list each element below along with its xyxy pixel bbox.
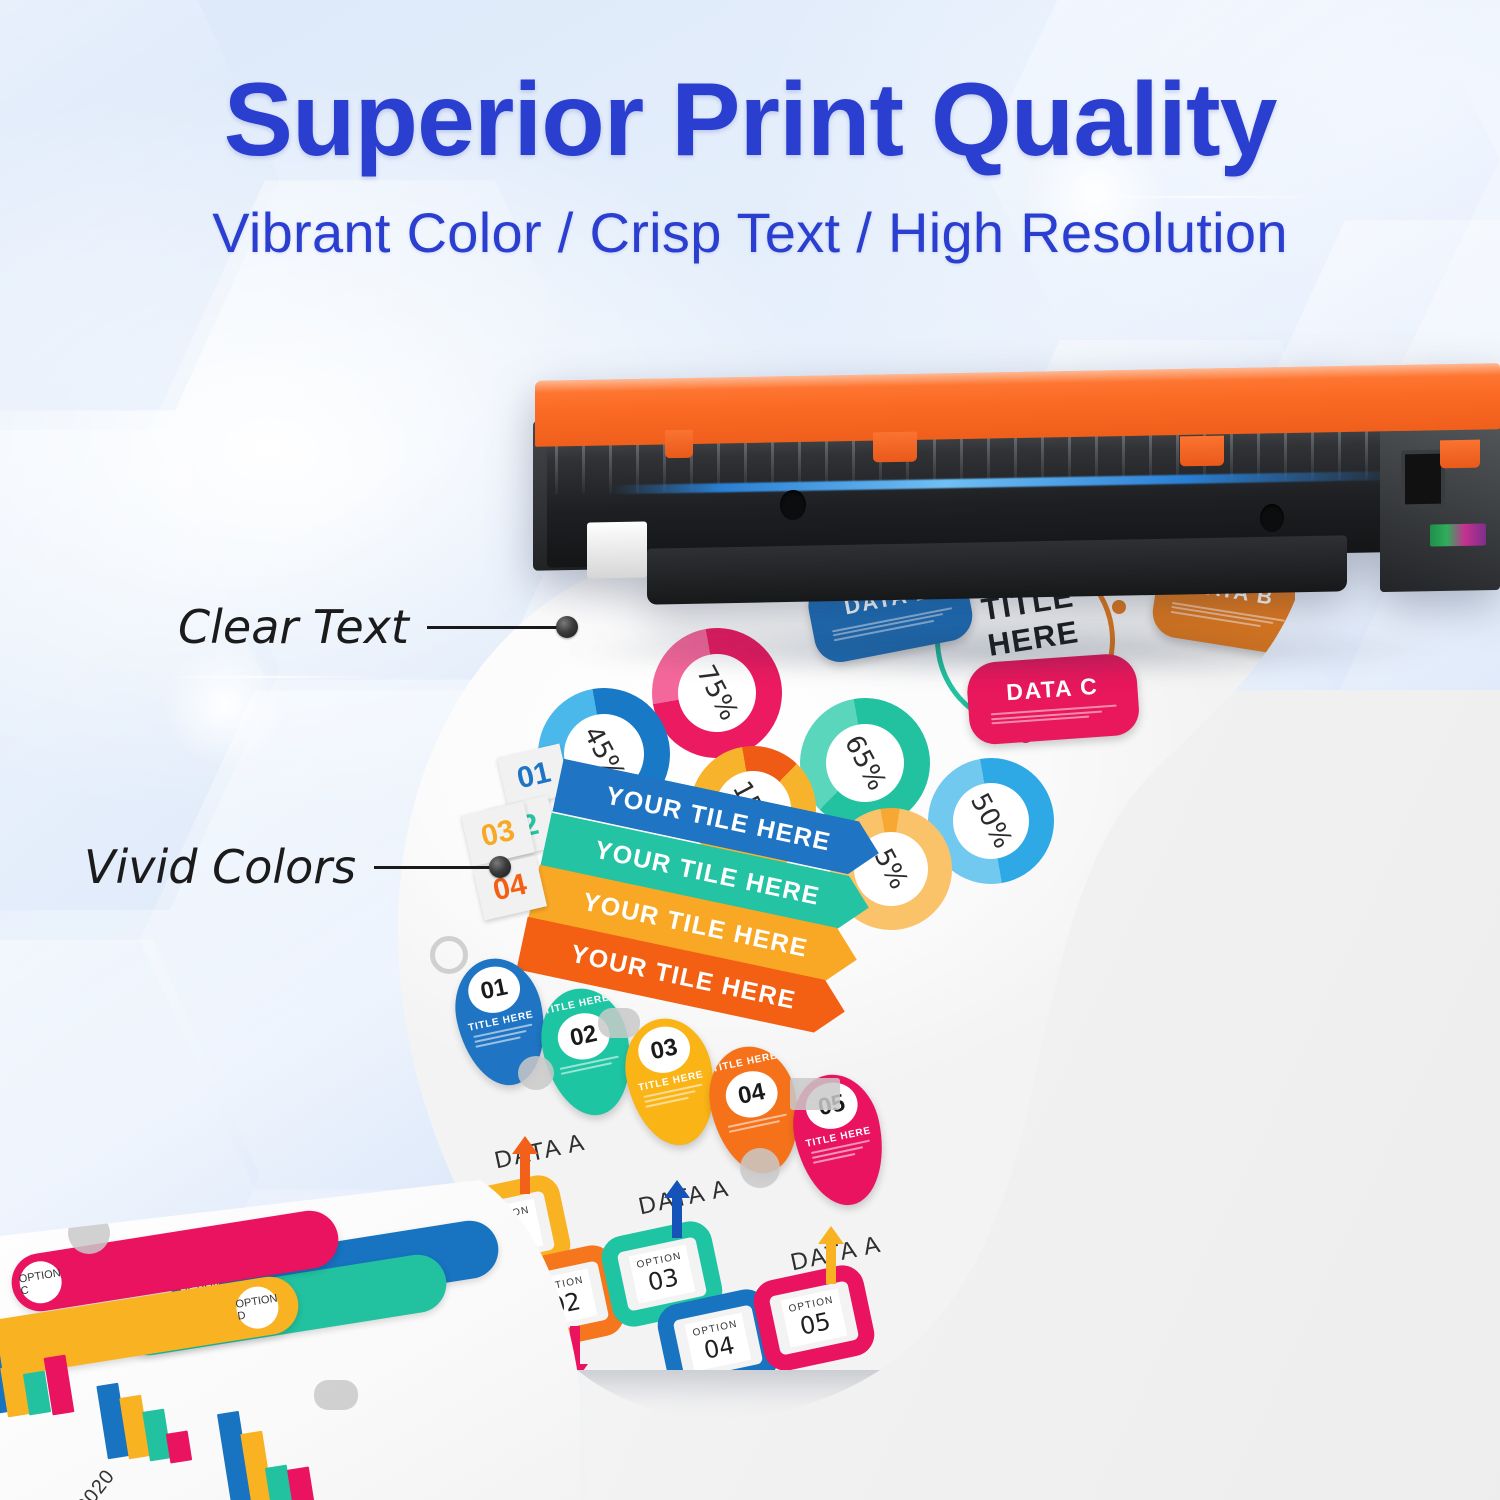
toner-cartridge: [525, 372, 1500, 647]
option-arrow-05: [818, 1226, 844, 1284]
cartridge-tab-4: [1440, 440, 1480, 469]
cartridge-roller: [647, 535, 1347, 604]
pill-option-d-cap: OPTION D: [233, 1284, 281, 1332]
chat-bubble-icon: [598, 1008, 640, 1038]
option-04-number: 04: [701, 1331, 737, 1365]
callout-clear-text-leader: [427, 626, 559, 629]
bar-chart-xtick-2019: 2019: [0, 1419, 6, 1471]
cartridge-tab-2: [873, 432, 917, 463]
callout-vivid-colors-label: Vivid Colors: [84, 840, 356, 894]
chat-icon-bottom: [314, 1380, 358, 1410]
clock-icon: [430, 936, 468, 974]
pill-option-c-cap: OPTION C: [17, 1258, 65, 1306]
option-05-number: 05: [797, 1307, 833, 1341]
callout-vivid-colors-leader: [374, 866, 492, 869]
bar-2020-pink: [166, 1430, 192, 1463]
cartridge-chip: [1430, 523, 1486, 546]
page-subtitle: Vibrant Color / Crisp Text / High Resolu…: [0, 200, 1500, 265]
bar-chart-xtick-2020: 2020: [72, 1465, 120, 1500]
cartridge-contact-slot: [1401, 450, 1445, 509]
pin-01-number: 01: [464, 962, 524, 1018]
cartridge-tab-1: [665, 430, 693, 459]
page-title: Superior Print Quality: [0, 66, 1500, 174]
poster-canvas: Superior Print Quality Vibrant Color / C…: [0, 0, 1500, 1500]
data-a-label-1: DATA A: [492, 1129, 588, 1176]
callout-vivid-colors-dot: [489, 856, 511, 878]
gear-icon: [740, 1148, 780, 1188]
header-block: Superior Print Quality Vibrant Color / C…: [0, 66, 1500, 265]
printed-page-bottom: OPTION A OPTION B OPTION C OPTION D: [0, 1180, 580, 1500]
option-03-number: 03: [645, 1263, 681, 1297]
cartridge-white-gear: [587, 521, 647, 578]
pin-03-number: 03: [634, 1022, 694, 1078]
callout-clear-text-dot: [556, 616, 578, 638]
cartridge-tab-3: [1180, 436, 1224, 467]
option-box-05: OPTION 05: [750, 1261, 879, 1370]
option-arrow-01: [512, 1136, 538, 1194]
callout-clear-text-label: Clear Text: [178, 600, 409, 654]
option-arrow-03: [664, 1180, 690, 1238]
bar-chart-icon: [790, 1078, 840, 1110]
callout-vivid-colors: Vivid Colors: [84, 840, 511, 894]
callout-clear-text: Clear Text: [178, 600, 578, 654]
bar-2021-pink: [287, 1467, 315, 1500]
lightbulb-icon: [518, 1056, 554, 1090]
